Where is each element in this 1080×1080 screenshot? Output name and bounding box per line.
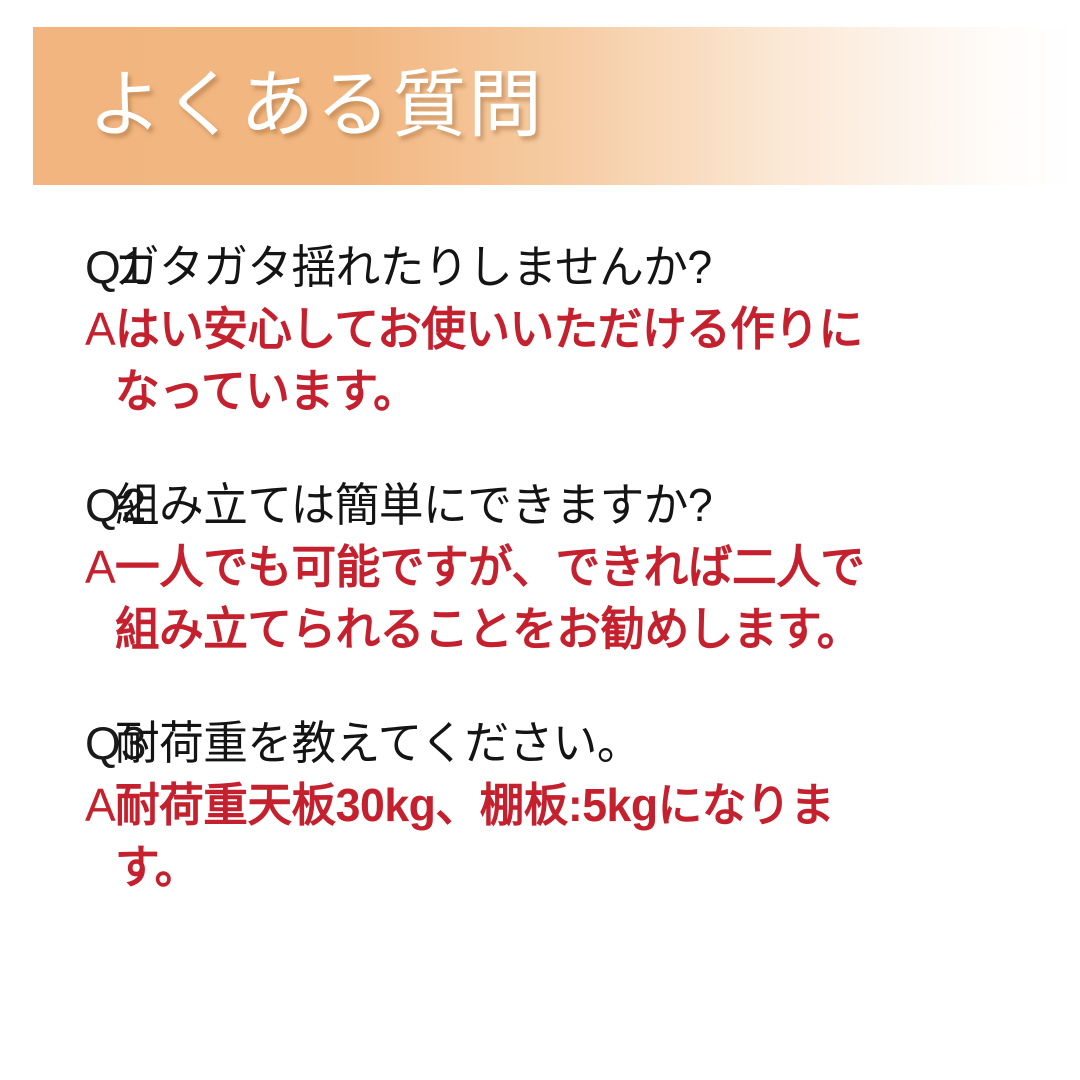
answer-line: はい安心してお使いいただける作りに [115, 298, 1051, 360]
faq-answer-row: A 耐荷重天板30kg、棚板:5kgになりま す。 [0, 774, 1080, 898]
answer-text: はい安心してお使いいただける作りに なっています。 [115, 298, 1051, 422]
answer-label: A [0, 536, 115, 598]
answer-text: 耐荷重天板30kg、棚板:5kgになりま す。 [115, 774, 1051, 898]
answer-line: す。 [115, 836, 1051, 898]
faq-answer-row: A はい安心してお使いいただける作りに なっています。 [0, 298, 1080, 422]
faq-question-row: Q1 ガタガタ揺れたりしませんか? [0, 236, 1080, 298]
answer-label: A [0, 774, 115, 836]
answer-line: なっています。 [115, 360, 1051, 422]
question-text: 組み立ては簡単にできますか? [115, 474, 1051, 536]
question-label: Q3 [0, 712, 115, 774]
faq-item: Q2 組み立ては簡単にできますか? A 一人でも可能ですが、できれば二人で 組み… [0, 474, 1080, 660]
answer-text: 一人でも可能ですが、できれば二人で 組み立てられることをお勧めします。 [115, 536, 1051, 660]
faq-question-row: Q3 耐荷重を教えてください。 [0, 712, 1080, 774]
answer-line: 耐荷重天板30kg、棚板:5kgになりま [115, 774, 1051, 836]
faq-list: Q1 ガタガタ揺れたりしませんか? A はい安心してお使いいただける作りに なっ… [0, 236, 1080, 898]
faq-question-row: Q2 組み立ては簡単にできますか? [0, 474, 1080, 536]
page-title: よくある質問 [88, 69, 544, 143]
answer-line: 一人でも可能ですが、できれば二人で [115, 536, 1051, 598]
question-label: Q1 [0, 236, 115, 298]
faq-page: よくある質問 Q1 ガタガタ揺れたりしませんか? A はい安心してお使いいただけ… [0, 0, 1080, 1080]
question-text: ガタガタ揺れたりしませんか? [115, 236, 1051, 298]
faq-item: Q3 耐荷重を教えてください。 A 耐荷重天板30kg、棚板:5kgになりま す… [0, 712, 1080, 898]
faq-item: Q1 ガタガタ揺れたりしませんか? A はい安心してお使いいただける作りに なっ… [0, 236, 1080, 422]
header-banner: よくある質問 [33, 27, 1080, 185]
answer-line: 組み立てられることをお勧めします。 [115, 598, 1051, 660]
faq-answer-row: A 一人でも可能ですが、できれば二人で 組み立てられることをお勧めします。 [0, 536, 1080, 660]
question-text: 耐荷重を教えてください。 [115, 712, 1051, 774]
question-label: Q2 [0, 474, 115, 536]
answer-label: A [0, 298, 115, 360]
